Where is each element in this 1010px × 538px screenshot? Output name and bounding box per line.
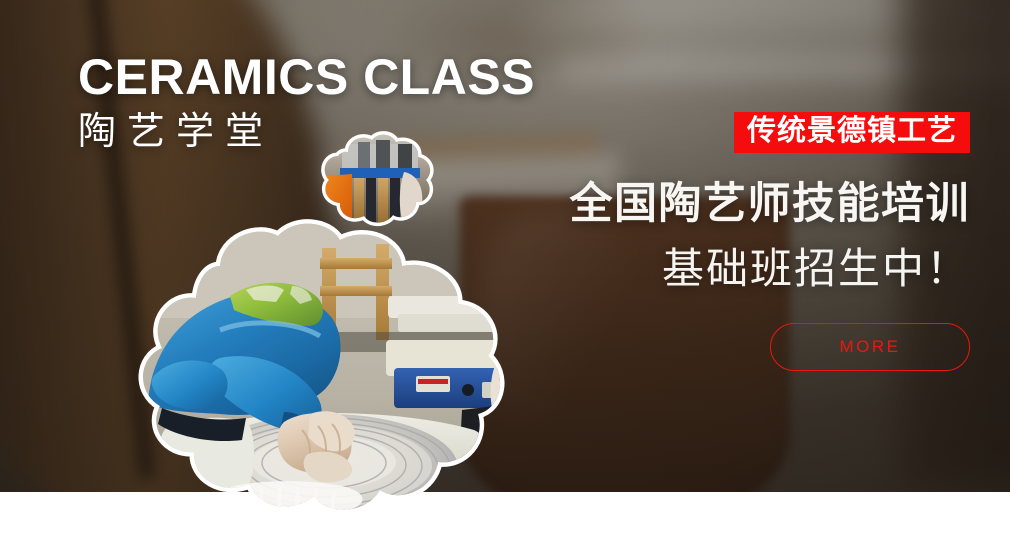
more-button[interactable]: MORE xyxy=(770,323,970,371)
promo-headline-secondary: 基础班招生中！ xyxy=(535,247,970,291)
page-title-chinese: 陶艺学堂 xyxy=(78,113,535,151)
promo-copy-block: 传统景德镇工艺 全国陶艺师技能培训 基础班招生中！ MORE xyxy=(535,112,970,371)
title-block: CERAMICS CLASS 陶艺学堂 xyxy=(78,52,535,151)
cloud-photo-large xyxy=(70,222,540,522)
cloud-photo-small-image xyxy=(312,130,444,230)
cloud-photo-small xyxy=(312,130,444,230)
ceramics-class-banner: CERAMICS CLASS 陶艺学堂 xyxy=(0,0,1010,538)
promo-headline-primary: 全国陶艺师技能培训 xyxy=(535,182,970,227)
status-badge: 传统景德镇工艺 xyxy=(734,112,970,153)
page-title-english: CERAMICS CLASS xyxy=(78,52,535,102)
